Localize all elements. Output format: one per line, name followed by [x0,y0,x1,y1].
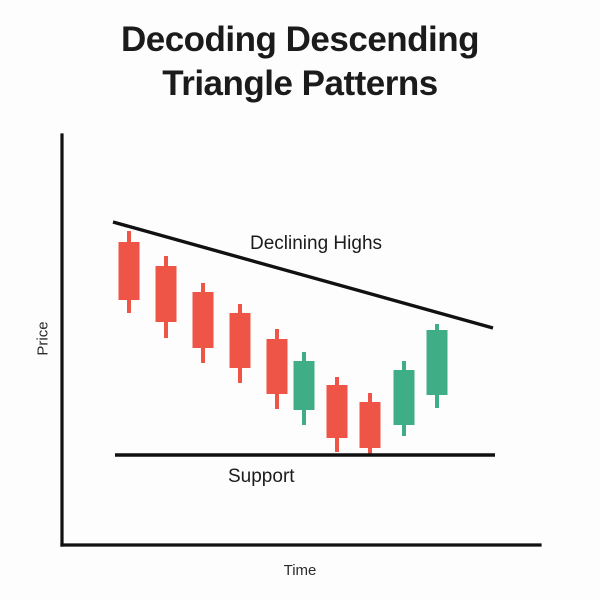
y-axis-label: Price [35,294,52,384]
candle-body-bearish [193,292,214,348]
support-label: Support [228,466,295,488]
candle-body-bullish [394,370,415,425]
chart-canvas: Decoding Descending Triangle Patterns Pr… [0,0,600,600]
axes [62,135,540,545]
candlestick-plot [0,0,600,600]
candle-body-bearish [230,313,251,368]
candlestick-series [119,231,448,456]
candle-body-bearish [119,242,140,300]
candle-body-bullish [294,361,315,410]
x-axis-label: Time [250,562,350,579]
candle-body-bullish [427,330,448,395]
candle-body-bearish [327,385,348,438]
candle-body-bearish [360,402,381,448]
candle-body-bearish [156,266,177,322]
declining-highs-label: Declining Highs [250,233,382,255]
candle-body-bearish [267,339,288,394]
